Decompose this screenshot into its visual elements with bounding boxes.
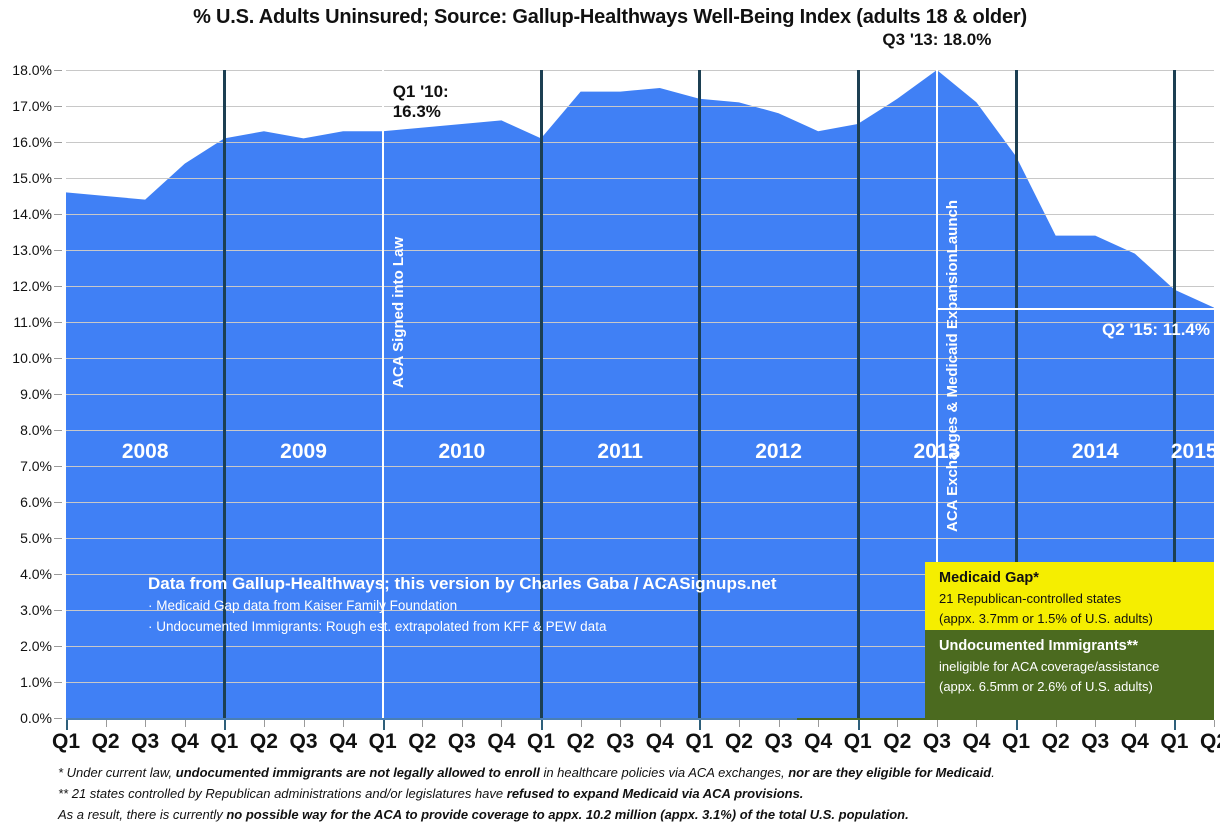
x-axis-tick-label: Q1 [369,730,397,754]
y-axis-tick-label: 2.0% [20,638,52,654]
y-axis-tick-label: 8.0% [20,422,52,438]
x-axis-tick-label: Q2 [408,730,436,754]
x-axis-tick-mark [1095,720,1096,727]
y-axis-tick-label: 10.0% [12,350,52,366]
callout-q2-2015: Q2 '15: 11.4% [1102,320,1210,340]
x-axis-tick-mark [1214,720,1215,727]
footnote-1-b: undocumented immigrants are not legally … [176,765,540,780]
y-axis-tick-label: 14.0% [12,206,52,222]
year-label: 2015 [1171,440,1218,464]
gridline [66,430,1214,431]
x-axis-tick-label: Q2 [92,730,120,754]
footnote-3: As a result, there is currently no possi… [58,804,1218,825]
footnote-1-e: . [991,765,995,780]
year-label: 2011 [597,440,643,464]
gridline [66,466,1214,467]
x-axis-tick-mark [501,720,502,727]
x-axis-tick-mark [264,720,265,727]
y-axis-tick-mark [54,682,62,683]
x-axis-tick-mark [620,720,621,727]
y-axis-tick-label: 1.0% [20,674,52,690]
y-axis-tick-mark [54,106,62,107]
x-axis-tick-label: Q3 [1081,730,1109,754]
footnote-3-a: As a result, there is currently [58,807,226,822]
x-axis-tick-mark [185,720,186,727]
footnote-1-c: in healthcare policies via ACA exchanges… [540,765,788,780]
x-axis-tick-label: Q3 [448,730,476,754]
y-axis-tick-mark [54,610,62,611]
x-axis-tick-label: Q1 [685,730,713,754]
y-axis-tick-label: 15.0% [12,170,52,186]
y-axis-tick-label: 4.0% [20,566,52,582]
legend-medicaid-gap: Medicaid Gap* 21 Republican-controlled s… [925,562,1214,630]
gridline [66,538,1214,539]
x-axis-tick-mark [897,720,898,727]
callout-q3-2013: Q3 '13: 18.0% [882,30,991,50]
credit-line-1: Data from Gallup-Healthways; this versio… [148,573,777,596]
x-axis-tick-label: Q3 [290,730,318,754]
x-axis-tick-mark [541,720,543,730]
footnote-3-b: no possible way for the ACA to provide c… [226,807,908,822]
y-axis-tick-label: 0.0% [20,710,52,726]
gridline [66,502,1214,503]
legend-undocumented-line1: ineligible for ACA coverage/assistance [939,657,1204,677]
y-axis-tick-label: 18.0% [12,62,52,78]
x-axis-tick-label: Q2 [1200,730,1220,754]
year-label: 2010 [439,440,486,464]
footnote-2: ** 21 states controlled by Republican ad… [58,783,1218,804]
x-axis-tick-mark [106,720,107,727]
credit-line-2: · Medicaid Gap data from Kaiser Family F… [148,596,777,617]
footnote-1-d: nor are they eligible for Medicaid [788,765,991,780]
footnote-2-a: ** 21 states controlled by Republican ad… [58,786,507,801]
y-axis-tick-mark [54,646,62,647]
gridline [66,142,1214,143]
x-axis-tick-label: Q4 [1121,730,1149,754]
y-axis-tick-mark [54,178,62,179]
footnote-1: * Under current law, undocumented immigr… [58,762,1218,783]
gridline [66,214,1214,215]
x-axis-tick-label: Q1 [210,730,238,754]
x-axis-tick-mark [818,720,819,727]
y-axis-tick-label: 11.0% [13,314,52,330]
x-axis-tick-label: Q2 [883,730,911,754]
y-axis-tick-mark [54,466,62,467]
x-axis-tick-mark [937,720,938,727]
x-axis-tick-label: Q3 [765,730,793,754]
y-axis-tick-label: 13.0% [12,242,52,258]
x-axis-tick-mark [343,720,344,727]
x-axis: Q1Q2Q3Q4Q1Q2Q3Q4Q1Q2Q3Q4Q1Q2Q3Q4Q1Q2Q3Q4… [66,720,1214,760]
y-axis-tick-label: 5.0% [20,530,52,546]
legend-undocumented-line2: (appx. 6.5mm or 2.6% of U.S. adults) [939,677,1204,697]
y-axis-tick-mark [54,718,62,719]
final-value-guideline [936,308,1214,310]
legend-undocumented-immigrants: Undocumented Immigrants** ineligible for… [925,630,1214,719]
x-axis-tick-label: Q4 [329,730,357,754]
x-axis-tick-mark [304,720,305,727]
x-axis-tick-label: Q1 [844,730,872,754]
x-axis-tick-mark [779,720,780,727]
legend-medicaid-line1: 21 Republican-controlled states [939,589,1204,609]
x-axis-tick-mark [1135,720,1136,727]
x-axis-tick-label: Q4 [804,730,832,754]
gridline [66,322,1214,323]
credit-line-3: · Undocumented Immigrants: Rough est. ex… [148,617,777,638]
x-axis-tick-mark [422,720,423,727]
gridline [66,286,1214,287]
y-axis-tick-label: 17.0% [12,98,52,114]
gridline [66,106,1214,107]
x-axis-tick-mark [1056,720,1057,727]
year-label: 2012 [755,440,802,464]
chart-title: % U.S. Adults Uninsured; Source: Gallup-… [0,6,1220,29]
x-axis-tick-mark [462,720,463,727]
legend-medicaid-title: Medicaid Gap* [939,568,1204,589]
x-axis-tick-mark [739,720,740,727]
year-label: 2014 [1072,440,1119,464]
x-axis-tick-mark [858,720,860,730]
x-axis-tick-label: Q2 [1042,730,1070,754]
y-axis-tick-mark [54,394,62,395]
legend-medicaid-line2: (appx. 3.7mm or 1.5% of U.S. adults) [939,609,1204,629]
x-axis-tick-mark [1016,720,1018,730]
y-axis-tick-mark [54,286,62,287]
x-axis-tick-label: Q1 [52,730,80,754]
y-axis-tick-mark [54,250,62,251]
x-axis-tick-label: Q3 [606,730,634,754]
x-axis-tick-mark [581,720,582,727]
y-axis-tick-mark [54,142,62,143]
y-axis-tick-mark [54,70,62,71]
x-axis-tick-label: Q1 [1160,730,1188,754]
credit-block: Data from Gallup-Healthways; this versio… [148,573,777,638]
x-axis-tick-label: Q4 [171,730,199,754]
y-axis-tick-mark [54,358,62,359]
gridline [66,250,1214,251]
x-axis-tick-label: Q4 [487,730,515,754]
footnotes: * Under current law, undocumented immigr… [58,762,1218,825]
gridline [66,178,1214,179]
x-axis-tick-mark [66,720,68,730]
year-separator [857,70,860,718]
x-axis-tick-mark [224,720,226,730]
y-axis: 18.0%17.0%16.0%15.0%14.0%13.0%12.0%11.0%… [0,70,62,718]
aca-launch-label: ACA Exchanges & Medicaid ExpansionLaunch [944,200,961,532]
year-label: 2009 [280,440,327,464]
x-axis-tick-mark [383,720,385,730]
gridline [66,70,1214,71]
x-axis-tick-label: Q3 [923,730,951,754]
y-axis-tick-mark [54,214,62,215]
x-axis-tick-label: Q4 [962,730,990,754]
x-axis-tick-label: Q1 [527,730,555,754]
y-axis-tick-mark [54,538,62,539]
x-axis-tick-label: Q1 [1002,730,1030,754]
x-axis-tick-mark [699,720,701,730]
y-axis-tick-mark [54,502,62,503]
y-axis-tick-mark [54,322,62,323]
legend-undocumented-title: Undocumented Immigrants** [939,636,1204,657]
footnote-1-a: * Under current law, [58,765,176,780]
x-axis-tick-label: Q4 [646,730,674,754]
aca-signed-into-law-label: ACA Signed into Law [390,237,407,388]
y-axis-tick-mark [54,574,62,575]
y-axis-tick-label: 12.0% [12,278,52,294]
x-axis-tick-mark [976,720,977,727]
x-axis-tick-mark [1174,720,1176,730]
x-axis-tick-label: Q2 [567,730,595,754]
gridline [66,358,1214,359]
y-axis-tick-label: 7.0% [20,458,52,474]
x-axis-tick-label: Q3 [131,730,159,754]
x-axis-tick-mark [145,720,146,727]
y-axis-tick-label: 6.0% [20,494,52,510]
gridline [66,394,1214,395]
y-axis-tick-label: 16.0% [12,134,52,150]
callout-q1-2010: Q1 '10: 16.3% [393,82,449,123]
year-label: 2008 [122,440,169,464]
x-axis-tick-mark [660,720,661,727]
x-axis-tick-label: Q2 [250,730,278,754]
footnote-2-b: refused to expand Medicaid via ACA provi… [507,786,804,801]
y-axis-tick-label: 9.0% [20,386,52,402]
x-axis-tick-label: Q2 [725,730,753,754]
y-axis-tick-mark [54,430,62,431]
y-axis-tick-label: 3.0% [20,602,52,618]
